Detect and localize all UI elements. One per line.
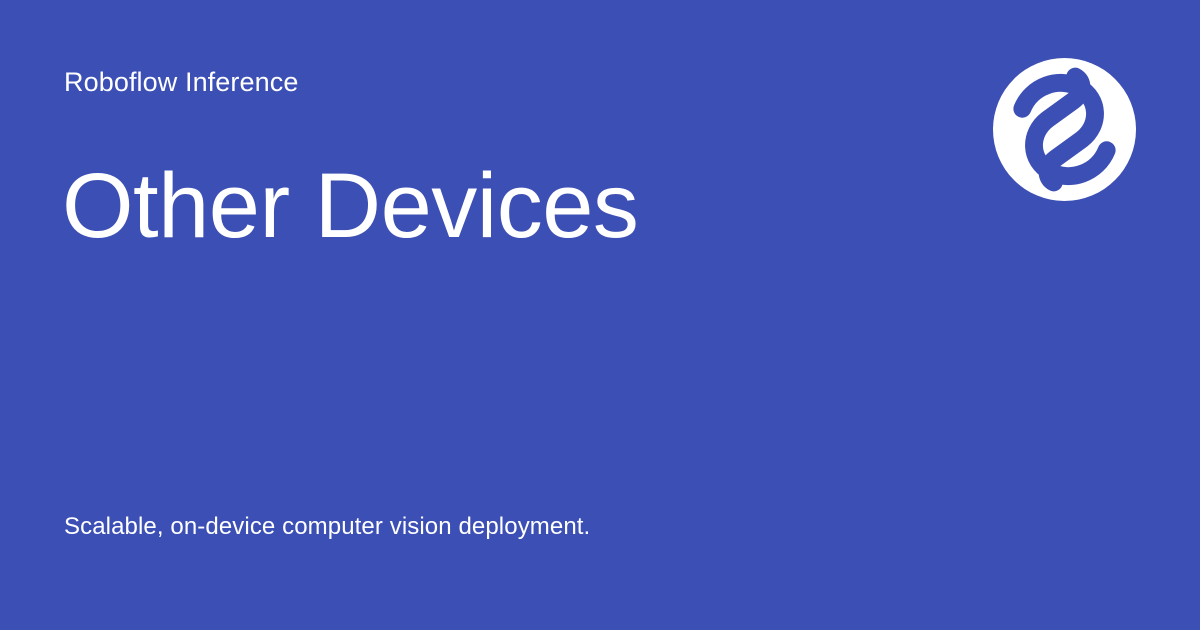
page-title: Other Devices: [62, 160, 638, 252]
product-label: Roboflow Inference: [64, 66, 298, 98]
roboflow-swirl-icon: [993, 58, 1136, 201]
social-preview-card: Roboflow Inference Other Devices Scalabl…: [0, 0, 1200, 630]
roboflow-logo: [993, 58, 1136, 201]
page-subtitle: Scalable, on-device computer vision depl…: [64, 511, 590, 542]
